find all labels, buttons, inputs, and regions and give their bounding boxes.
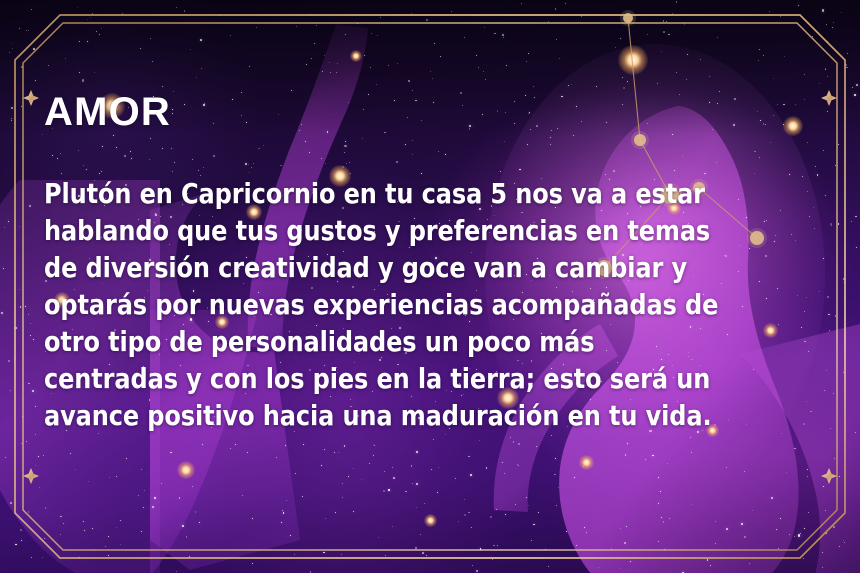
horoscope-card: AMOR Plutón en Capricornio en tu casa 5 …: [0, 0, 860, 573]
sparkle-icon: [23, 468, 39, 484]
sparkle-icon: [23, 90, 39, 106]
page-title: AMOR: [44, 92, 834, 132]
card-content: AMOR Plutón en Capricornio en tu casa 5 …: [44, 92, 834, 435]
horoscope-body-text: Plutón en Capricornio en tu casa 5 nos v…: [44, 176, 810, 435]
sparkle-icon: [821, 468, 837, 484]
